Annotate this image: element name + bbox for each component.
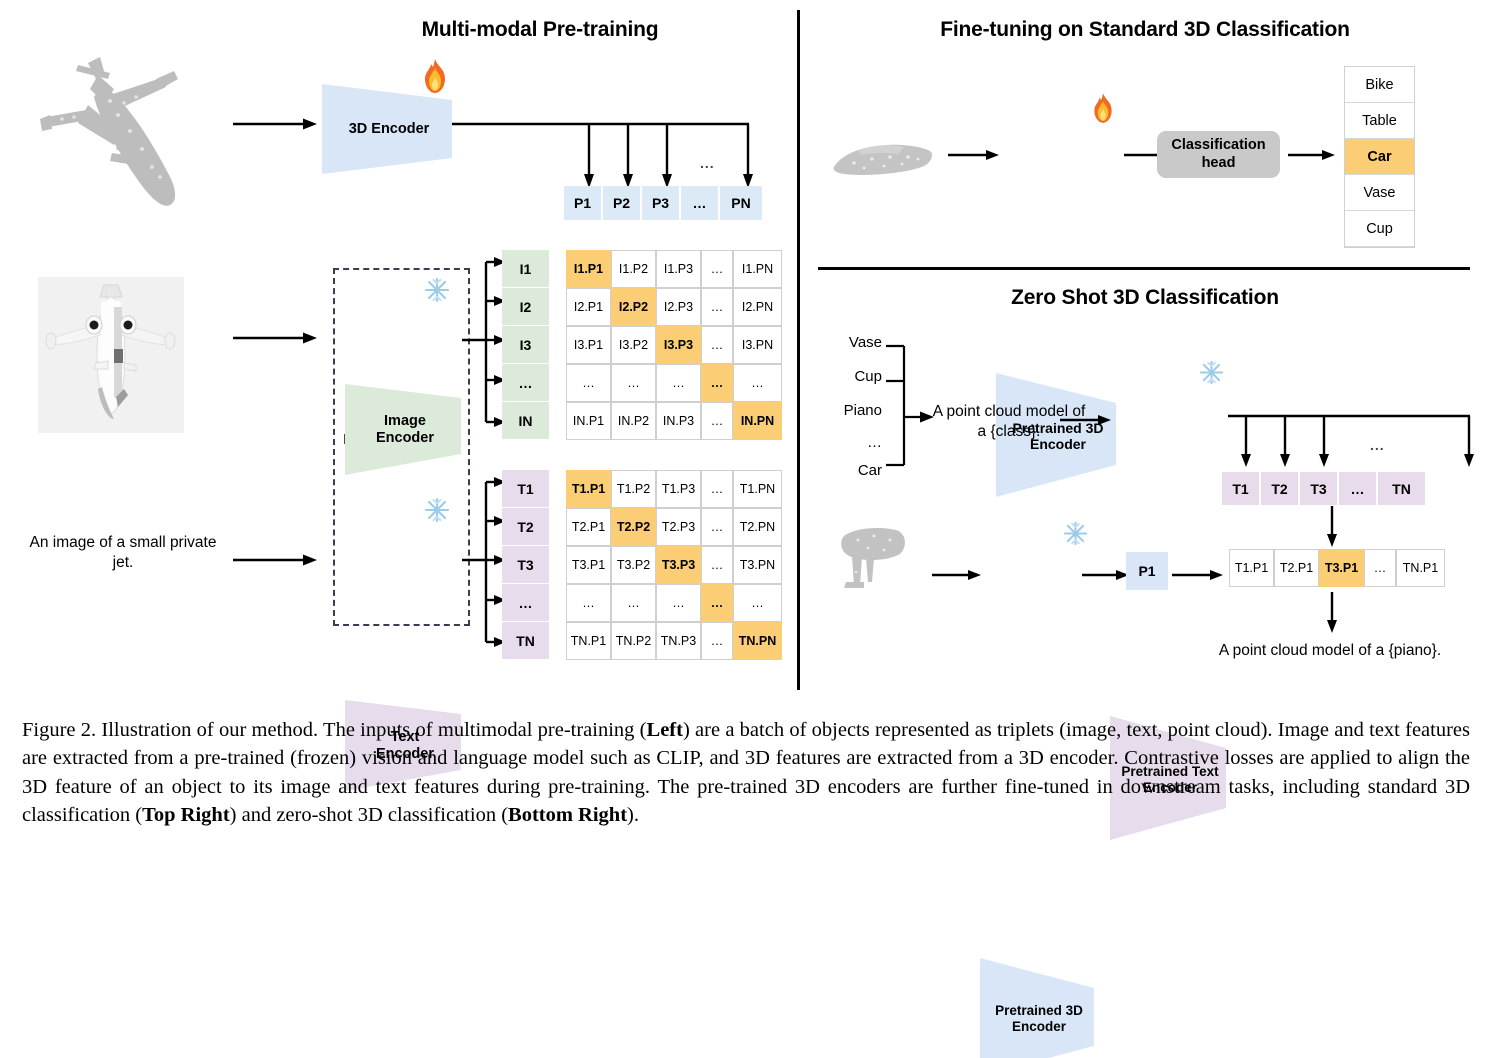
horizontal-divider — [818, 267, 1470, 270]
matrix-cell: T1.PN — [733, 470, 782, 508]
matrix-cell: T3.P2 — [611, 546, 656, 584]
matrix-row: I1.P1I1.P2I1.P3…I1.PN — [566, 250, 782, 288]
matrix-row: IN.P1IN.P2IN.P3…IN.PN — [566, 402, 782, 440]
p-feature-cell: … — [681, 186, 720, 220]
matrix-cell: T2.P3 — [656, 508, 701, 546]
matrix-cell: … — [733, 584, 782, 622]
input-text-caption: An image of a small private jet. — [28, 533, 218, 573]
class-list-item[interactable]: Cup — [1345, 211, 1414, 247]
zeroshot-class-list: VaseCupPiano…Car — [824, 334, 882, 484]
pretrained-3d-encoder-label: Pretrained 3D Encoder — [1012, 420, 1103, 452]
snowflake-icon — [1199, 360, 1224, 385]
zeroshot-t-cell: T1 — [1222, 472, 1261, 505]
matrix-cell: … — [701, 470, 733, 508]
fire-icon — [1090, 92, 1116, 124]
score-cell-selected: T3.P1 — [1319, 549, 1364, 587]
matrix-cell: I3.PN — [733, 326, 782, 364]
image-feature-labels: I1I2I3…IN — [502, 250, 549, 440]
zeroshot-t-cell: T2 — [1261, 472, 1300, 505]
matrix-cell: … — [656, 364, 701, 402]
snowflake-icon — [424, 497, 450, 523]
zeroshot-class-name: … — [824, 434, 882, 451]
figure-canvas: Multi-modal Pre-training — [0, 0, 1490, 700]
feature-label-cell: … — [502, 584, 549, 622]
feature-label-cell: TN — [502, 622, 549, 660]
car-point-cloud — [828, 133, 938, 189]
matrix-cell: T2.PN — [733, 508, 782, 546]
encoder-3d-label: 3D Encoder — [349, 121, 430, 138]
matrix-cell: … — [733, 364, 782, 402]
arrow-car-to-encoder — [948, 149, 1000, 161]
p-feature-cell: P2 — [603, 186, 642, 220]
score-cell: … — [1364, 549, 1396, 587]
vertical-divider — [797, 10, 800, 690]
class-prediction-list[interactable]: BikeTableCarVaseCup — [1344, 66, 1415, 248]
matrix-cell: T2.P1 — [566, 508, 611, 546]
image-similarity-matrix: I1.P1I1.P2I1.P3…I1.PNI2.P1I2.P2I2.P3…I2.… — [566, 250, 782, 440]
feature-label-cell: T3 — [502, 546, 549, 584]
matrix-cell: T3.P1 — [566, 546, 611, 584]
bus-dots-zs: ... — [1370, 437, 1385, 453]
class-list-item[interactable]: Table — [1345, 103, 1414, 139]
text-feature-labels: T1T2T3…TN — [502, 470, 549, 660]
matrix-cell: … — [701, 250, 733, 288]
snowflake-icon — [1063, 521, 1088, 546]
zeroshot-class-name: Cup — [824, 368, 882, 385]
feature-label-cell: T2 — [502, 508, 549, 546]
zeroshot-class-name: Car — [824, 462, 882, 479]
zeroshot-t-cell: TN — [1378, 472, 1427, 505]
feature-label-cell: I1 — [502, 250, 549, 288]
feature-label-cell: I2 — [502, 288, 549, 326]
feature-label-cell: … — [502, 364, 549, 402]
matrix-cell: I3.P2 — [611, 326, 656, 364]
class-list-item[interactable]: Car — [1345, 139, 1414, 175]
matrix-cell: … — [566, 584, 611, 622]
arrow-head-to-classes — [1288, 149, 1336, 161]
matrix-cell: T1.P3 — [656, 470, 701, 508]
snowflake-icon — [424, 277, 450, 303]
image-encoder-label: Image Encoder — [376, 413, 434, 446]
matrix-cell-diagonal: I3.P3 — [656, 326, 701, 364]
zeroshot-class-name: Vase — [824, 334, 882, 351]
pretrained-text-encoder-label: Pretrained Text Encoder — [1121, 764, 1218, 795]
matrix-cell: … — [611, 584, 656, 622]
arrow-pointcloud-to-3dencoder — [233, 118, 318, 130]
arrow-text-to-text-encoder — [233, 554, 318, 566]
classification-head-label: Classification head — [1171, 137, 1265, 172]
matrix-cell: I2.P3 — [656, 288, 701, 326]
matrix-cell: I3.P1 — [566, 326, 611, 364]
matrix-cell: … — [701, 546, 733, 584]
matrix-cell: … — [656, 584, 701, 622]
matrix-cell: IN.P1 — [566, 402, 611, 440]
matrix-cell: … — [701, 326, 733, 364]
image-encoder-block[interactable]: Image Encoder — [345, 382, 465, 477]
matrix-cell: T3.PN — [733, 546, 782, 584]
matrix-row: I2.P1I2.P2I2.P3…I2.PN — [566, 288, 782, 326]
input-point-cloud-airplane — [18, 45, 238, 235]
matrix-cell: I1.PN — [733, 250, 782, 288]
matrix-cell: I2.PN — [733, 288, 782, 326]
score-cell: T2.P1 — [1274, 549, 1319, 587]
matrix-cell-diagonal: T3.P3 — [656, 546, 701, 584]
class-list-item[interactable]: Bike — [1345, 67, 1414, 103]
arrow-trow-to-scores — [1325, 506, 1339, 548]
matrix-cell-diagonal: IN.PN — [733, 402, 782, 440]
p-feature-cell: P1 — [564, 186, 603, 220]
matrix-row: T2.P1T2.P2T2.P3…T2.PN — [566, 508, 782, 546]
text-encoder-label: Text Encoder — [376, 729, 434, 762]
top-right-title: Fine-tuning on Standard 3D Classificatio… — [820, 18, 1470, 42]
matrix-row: …………… — [566, 584, 782, 622]
class-list-item[interactable]: Vase — [1345, 175, 1414, 211]
piano-point-cloud — [838, 524, 924, 602]
zeroshot-score-row: T1.P1T2.P1T3.P1…TN.P1 — [1229, 549, 1445, 587]
arrow-3dencoder-to-p1 — [1082, 569, 1130, 581]
matrix-row: …………… — [566, 364, 782, 402]
feature-label-cell: T1 — [502, 470, 549, 508]
bus-dots-p: ... — [700, 155, 715, 171]
matrix-row: TN.P1TN.P2TN.P3…TN.PN — [566, 622, 782, 660]
matrix-cell: I1.P3 — [656, 250, 701, 288]
matrix-cell: … — [611, 364, 656, 402]
matrix-cell: TN.P3 — [656, 622, 701, 660]
matrix-cell: IN.P2 — [611, 402, 656, 440]
feature-label-cell: IN — [502, 402, 549, 440]
fire-icon — [420, 58, 450, 94]
arrow-image-to-image-encoder — [233, 332, 318, 344]
figure-caption: Figure 2. Illustration of our method. Th… — [22, 716, 1470, 829]
matrix-cell-diagonal: … — [701, 584, 733, 622]
matrix-cell-diagonal: TN.PN — [733, 622, 782, 660]
encoder-3d-block[interactable]: 3D Encoder — [322, 84, 456, 174]
matrix-cell-diagonal: T2.P2 — [611, 508, 656, 546]
matrix-cell-diagonal: … — [701, 364, 733, 402]
arrow-scores-to-result — [1325, 592, 1339, 634]
matrix-cell-diagonal: T1.P1 — [566, 470, 611, 508]
bottom-right-title: Zero Shot 3D Classification — [820, 286, 1470, 310]
zeroshot-t-cell: T3 — [1300, 472, 1339, 505]
arrow-piano-to-3dencoder — [932, 569, 982, 581]
score-cell: TN.P1 — [1396, 549, 1445, 587]
matrix-cell: TN.P2 — [611, 622, 656, 660]
matrix-cell: TN.P1 — [566, 622, 611, 660]
matrix-cell: IN.P3 — [656, 402, 701, 440]
matrix-row: T1.P1T1.P2T1.P3…T1.PN — [566, 470, 782, 508]
zeroshot-t-cell: … — [1339, 472, 1378, 505]
matrix-cell: … — [566, 364, 611, 402]
matrix-cell-diagonal: I2.P2 — [611, 288, 656, 326]
p-feature-cell: P3 — [642, 186, 681, 220]
matrix-cell: I2.P1 — [566, 288, 611, 326]
text-similarity-matrix: T1.P1T1.P2T1.P3…T1.PNT2.P1T2.P2T2.P3…T2.… — [566, 470, 782, 660]
zeroshot-t-feature-row: T1T2T3…TN — [1222, 472, 1427, 505]
matrix-row: I3.P1I3.P2I3.P3…I3.PN — [566, 326, 782, 364]
zeroshot-result-text: A point cloud model of a {piano}. — [1185, 641, 1475, 661]
matrix-cell: … — [701, 402, 733, 440]
matrix-cell-diagonal: I1.P1 — [566, 250, 611, 288]
zeroshot-class-name: Piano — [824, 402, 882, 419]
matrix-cell: … — [701, 288, 733, 326]
bus-text-encoder-to-t-row — [1228, 410, 1472, 472]
matrix-cell: … — [701, 622, 733, 660]
p-feature-cell: PN — [720, 186, 764, 220]
classification-head-block[interactable]: Classification head — [1157, 131, 1280, 178]
zeroshot-3d-encoder-label: Pretrained 3D Encoder — [995, 1003, 1083, 1034]
p-feature-row: P1P2P3…PN — [564, 186, 764, 220]
zeroshot-pretrained-3d-encoder-block[interactable]: Pretrained 3D Encoder — [980, 980, 1098, 1058]
zeroshot-p1-feature: P1 — [1126, 552, 1168, 590]
matrix-cell: I1.P2 — [611, 250, 656, 288]
matrix-cell: … — [701, 508, 733, 546]
input-image-thumbnail — [38, 277, 184, 433]
score-cell: T1.P1 — [1229, 549, 1274, 587]
matrix-row: T3.P1T3.P2T3.P3…T3.PN — [566, 546, 782, 584]
matrix-cell: T1.P2 — [611, 470, 656, 508]
arrow-p1-to-scores — [1172, 569, 1224, 581]
feature-label-cell: I3 — [502, 326, 549, 364]
left-panel-title: Multi-modal Pre-training — [290, 18, 790, 42]
